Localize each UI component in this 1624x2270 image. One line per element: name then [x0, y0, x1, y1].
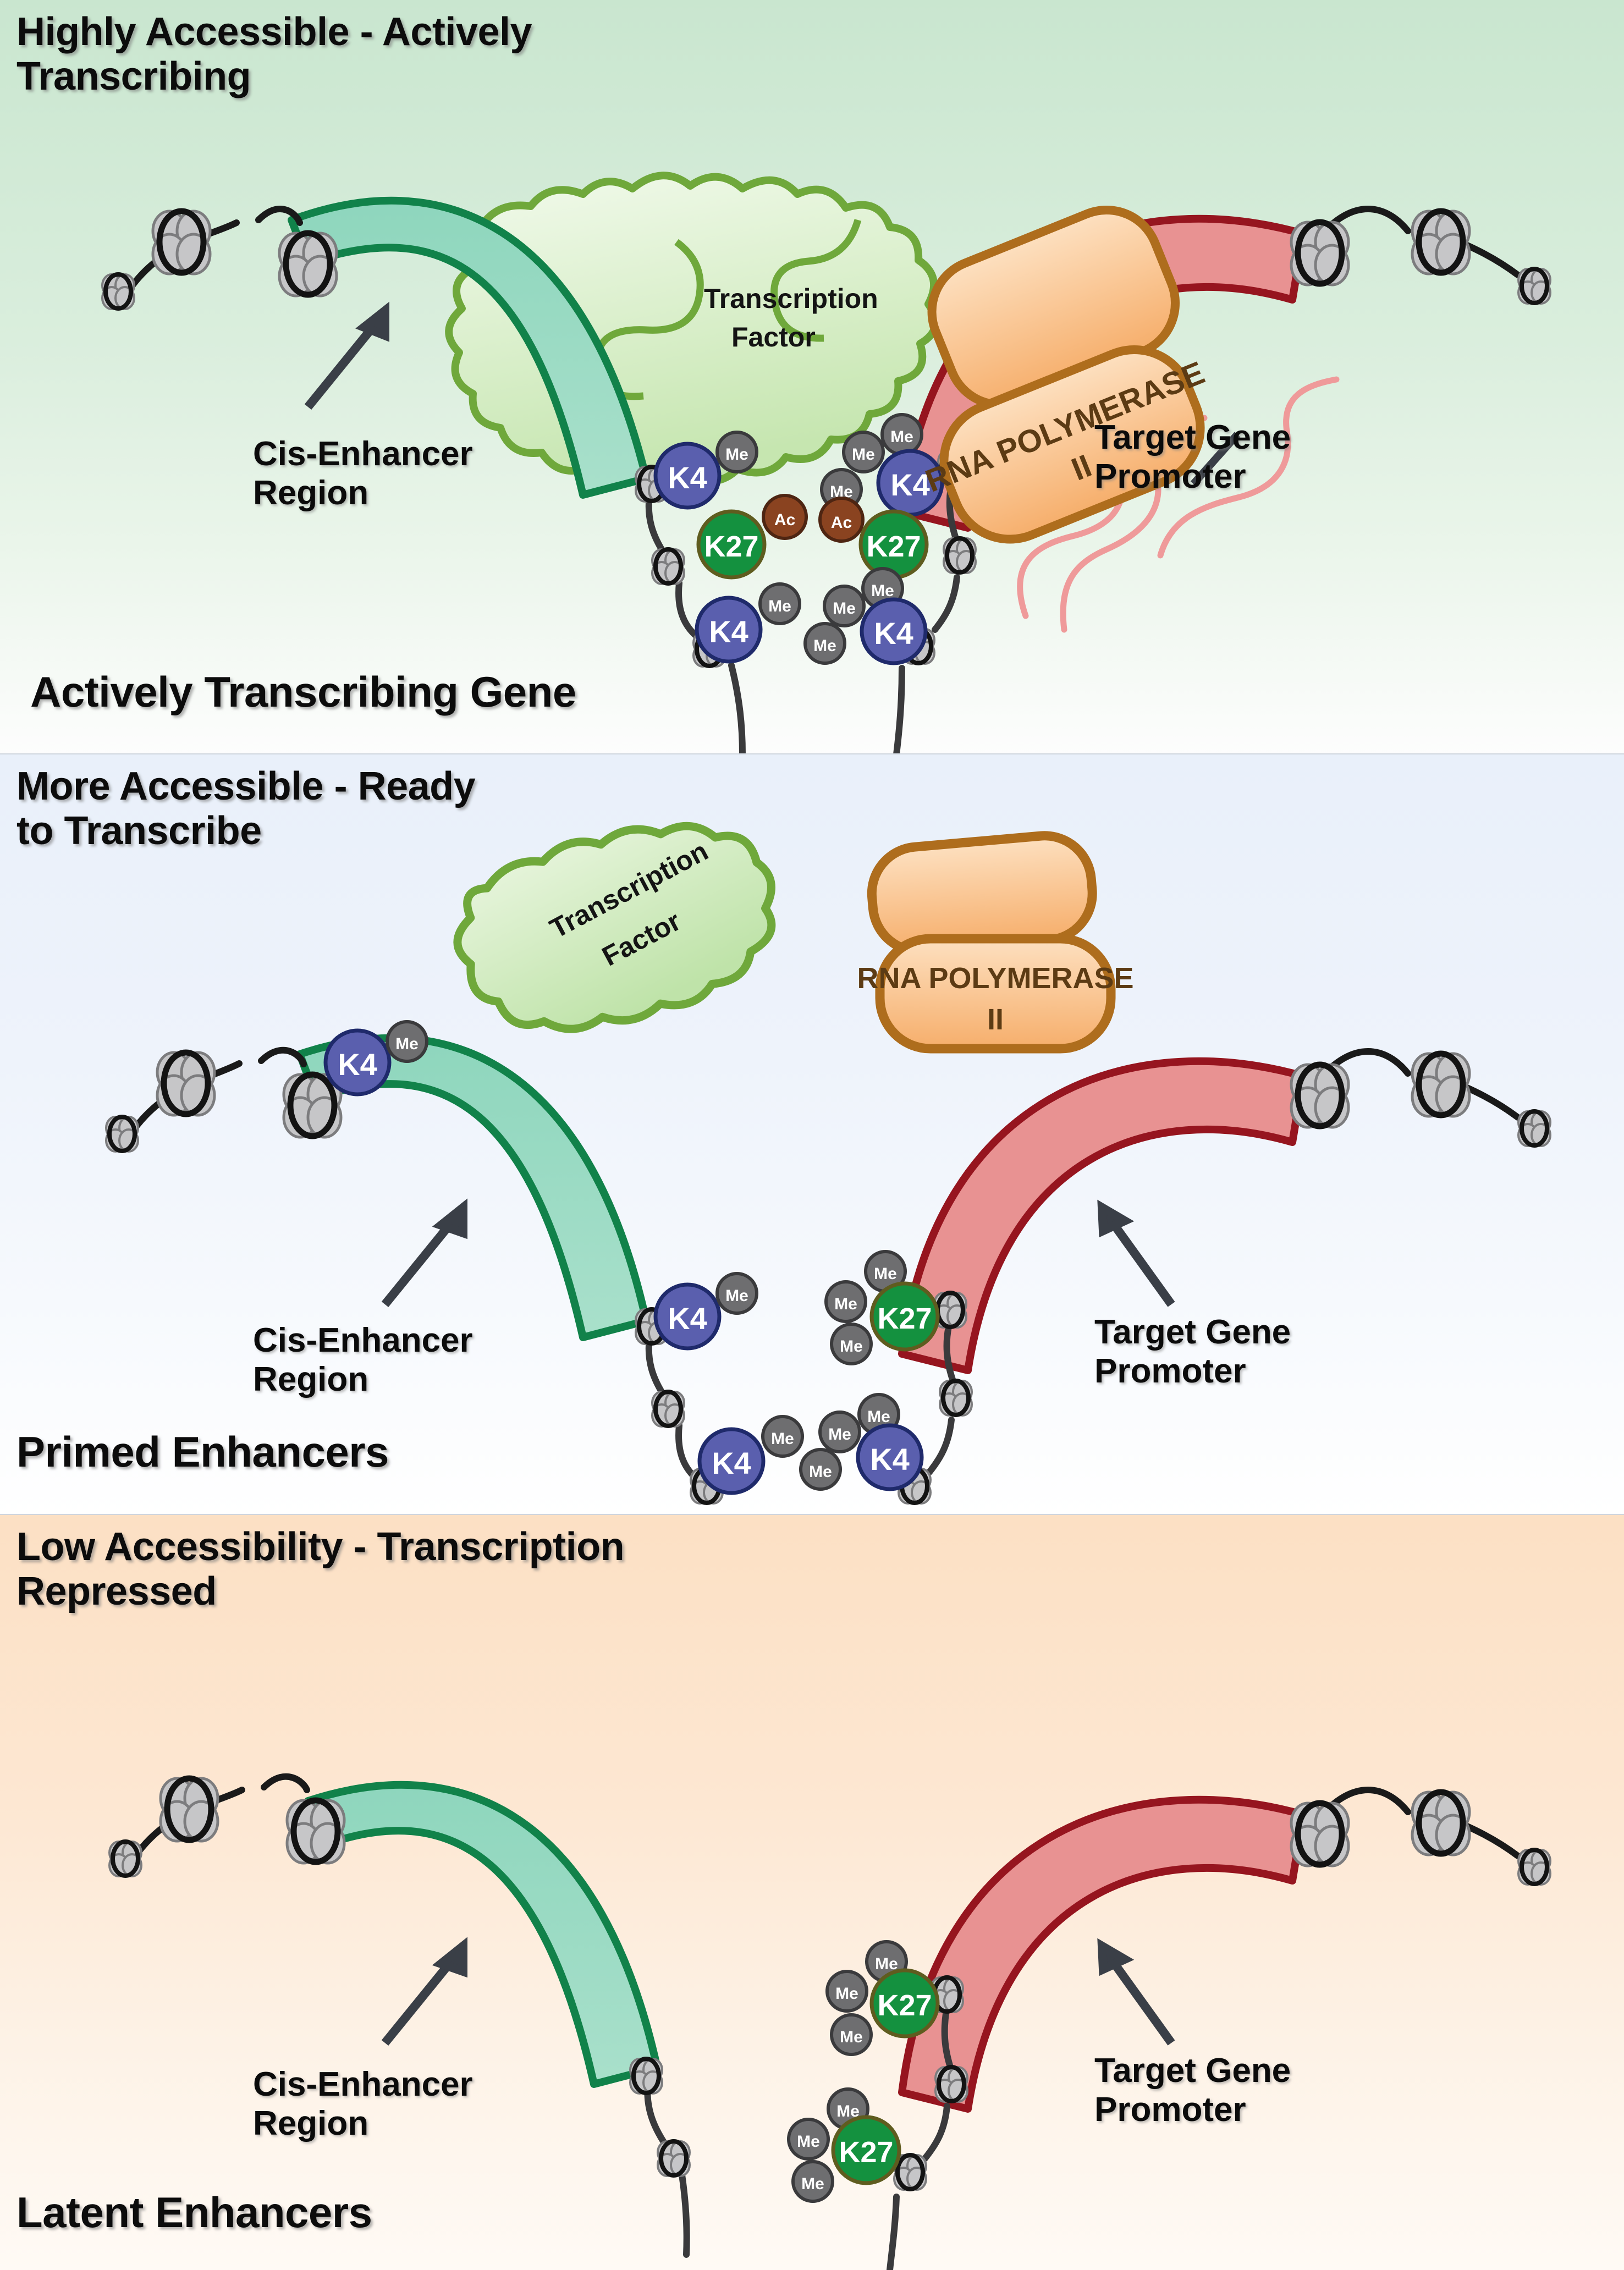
svg-text:Me: Me [725, 1287, 748, 1305]
svg-text:K27: K27 [877, 1302, 932, 1335]
panel2-graphics: Transcription Factor RNA POLYMERASE II [0, 754, 1624, 1515]
panel3-promoter-label: Target Gene Promoter [1094, 2051, 1291, 2130]
svg-text:Me: Me [835, 1985, 858, 2003]
mark-k4-me-enhancer-upper: K4 Me [656, 1274, 757, 1348]
svg-text:Me: Me [874, 1265, 897, 1283]
panel1-bottom-label: Actively Transcribing Gene [30, 668, 576, 716]
svg-text:Me: Me [771, 1430, 794, 1448]
svg-text:K27: K27 [877, 1989, 932, 2022]
svg-text:Me: Me [890, 428, 913, 446]
mark-k4-me3-promoter-lower: Me Me Me K4 [805, 569, 926, 663]
panel2-promoter-label: Target Gene Promoter [1094, 1313, 1291, 1391]
svg-text:K4: K4 [870, 1442, 910, 1476]
panel-low-accessibility: Me Me Me K27 Me Me Me K27 [0, 1515, 1624, 2270]
svg-text:K27: K27 [704, 530, 758, 563]
panel3-bottom-label: Latent Enhancers [16, 2189, 372, 2236]
enhancer-callout-arrow [308, 311, 385, 407]
svg-text:K4: K4 [709, 614, 748, 649]
svg-text:Ac: Ac [774, 511, 795, 529]
svg-text:Me: Me [395, 1035, 419, 1053]
panel2-title: More Accessible - Ready to Transcribe [16, 764, 475, 853]
nucleosome-small [102, 274, 134, 309]
panel1-enhancer-label: Cis-Enhancer Region [253, 434, 473, 513]
mark-k27-ac-enhancer-mid: K27 Ac [698, 495, 806, 577]
svg-text:Me: Me [833, 599, 856, 618]
svg-text:K4: K4 [668, 460, 707, 495]
panel3-graphics: Me Me Me K27 Me Me Me K27 [0, 1515, 1624, 2270]
enhancer-callout-arrow [385, 1946, 463, 2043]
promoter-callout-arrow [1102, 1946, 1171, 2043]
nucleosome [1291, 222, 1348, 285]
svg-text:Me: Me [809, 1463, 832, 1481]
svg-text:K4: K4 [668, 1301, 707, 1336]
nucleosome-small [1518, 269, 1550, 304]
svg-text:Me: Me [801, 2175, 824, 2193]
figure-root: Transcription Factor [0, 0, 1624, 2270]
nucleosome [153, 211, 210, 274]
svg-text:K4: K4 [712, 1446, 751, 1480]
svg-text:K27: K27 [839, 2136, 893, 2169]
panel3-title: Low Accessibility - Transcription Repres… [16, 1525, 624, 1613]
transcription-factor-blob: Transcription Factor [441, 798, 795, 1056]
svg-text:Ac: Ac [831, 514, 852, 532]
svg-text:Me: Me [725, 445, 748, 464]
mark-k4-me-enhancer-lower: K4 Me [697, 584, 800, 662]
cis-enhancer-ribbon [308, 1785, 657, 2084]
panel-more-accessible: Transcription Factor RNA POLYMERASE II [0, 754, 1624, 1515]
svg-text:K27: K27 [866, 530, 921, 563]
mark-k27-me3-promoter-lower: Me Me Me K27 [789, 2089, 899, 2201]
svg-text:Me: Me [813, 637, 836, 655]
panel1-graphics: Transcription Factor [0, 0, 1624, 754]
svg-text:K4: K4 [338, 1047, 377, 1082]
promoter-callout-arrow [1102, 1208, 1171, 1304]
panel1-title: Highly Accessible - Actively Transcribin… [16, 10, 532, 98]
nucleosome [279, 233, 337, 296]
svg-text:Me: Me [768, 597, 791, 615]
svg-text:Me: Me [871, 582, 894, 600]
svg-text:Me: Me [852, 445, 875, 464]
panel3-enhancer-label: Cis-Enhancer Region [253, 2065, 473, 2144]
svg-text:Me: Me [797, 2133, 820, 2151]
svg-text:Me: Me [840, 2028, 863, 2046]
transcription-factor-label-line2: Factor [731, 322, 816, 352]
panel-highly-accessible: Transcription Factor [0, 0, 1624, 754]
svg-text:Me: Me [867, 1408, 890, 1426]
svg-text:Me: Me [840, 1337, 863, 1356]
enhancer-callout-arrow [385, 1208, 463, 1304]
panel2-bottom-label: Primed Enhancers [16, 1428, 389, 1476]
polymerase-label-line2: II [987, 1003, 1004, 1036]
svg-text:Me: Me [834, 1295, 857, 1313]
svg-text:Me: Me [828, 1425, 851, 1443]
nucleosome [1412, 211, 1469, 274]
mark-k4-me-enhancer-lower: K4 Me [700, 1417, 802, 1493]
svg-text:K4: K4 [874, 616, 913, 651]
polymerase-label-line1: RNA POLYMERASE [857, 962, 1133, 995]
transcription-factor-label-line1: Transcription [704, 283, 878, 314]
panel1-promoter-label: Target Gene Promoter [1094, 418, 1291, 497]
mark-k4-me3-promoter-lower: Me Me Me K4 [801, 1395, 922, 1489]
panel2-enhancer-label: Cis-Enhancer Region [253, 1321, 473, 1400]
rna-polymerase-ii: RNA POLYMERASE II [857, 832, 1133, 1049]
